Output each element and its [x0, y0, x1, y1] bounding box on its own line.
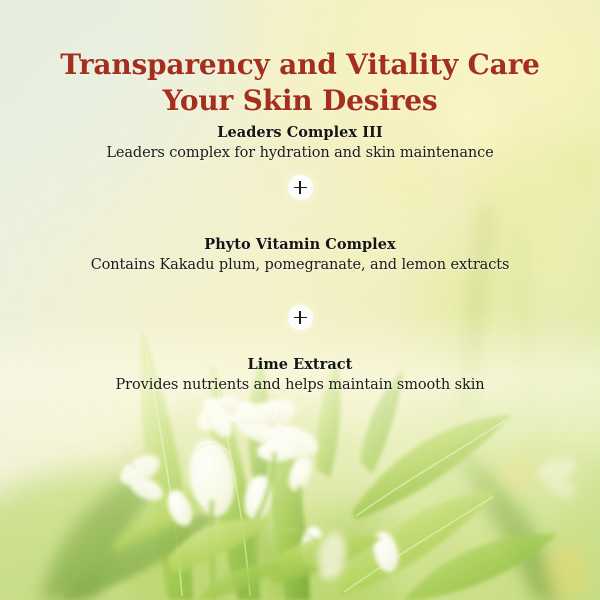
ingredient-description: Leaders complex for hydration and skin m…: [0, 145, 600, 163]
ingredient-description: Contains Kakadu plum, pomegranate, and l…: [0, 257, 600, 275]
ingredient-title: Leaders Complex III: [0, 124, 600, 141]
plus-icon: [288, 175, 313, 200]
ingredient-block-lime-extract: Lime Extract Provides nutrients and help…: [0, 356, 600, 395]
content-overlay: Transparency and Vitality Care Your Skin…: [0, 0, 600, 600]
ingredient-block-leaders-complex: Leaders Complex III Leaders complex for …: [0, 124, 600, 163]
page-title-line-2: Your Skin Desires: [0, 83, 600, 119]
ingredient-description: Provides nutrients and helps maintain sm…: [0, 377, 600, 395]
page-title-line-1: Transparency and Vitality Care: [0, 47, 600, 83]
ingredient-block-phyto-vitamin-complex: Phyto Vitamin Complex Contains Kakadu pl…: [0, 236, 600, 275]
plus-icon: [288, 305, 313, 330]
plus-glyph: [294, 311, 307, 324]
infographic-canvas: Transparency and Vitality Care Your Skin…: [0, 0, 600, 600]
plus-glyph: [294, 181, 307, 194]
ingredient-title: Phyto Vitamin Complex: [0, 236, 600, 253]
ingredient-title: Lime Extract: [0, 356, 600, 373]
page-title: Transparency and Vitality Care Your Skin…: [0, 47, 600, 119]
